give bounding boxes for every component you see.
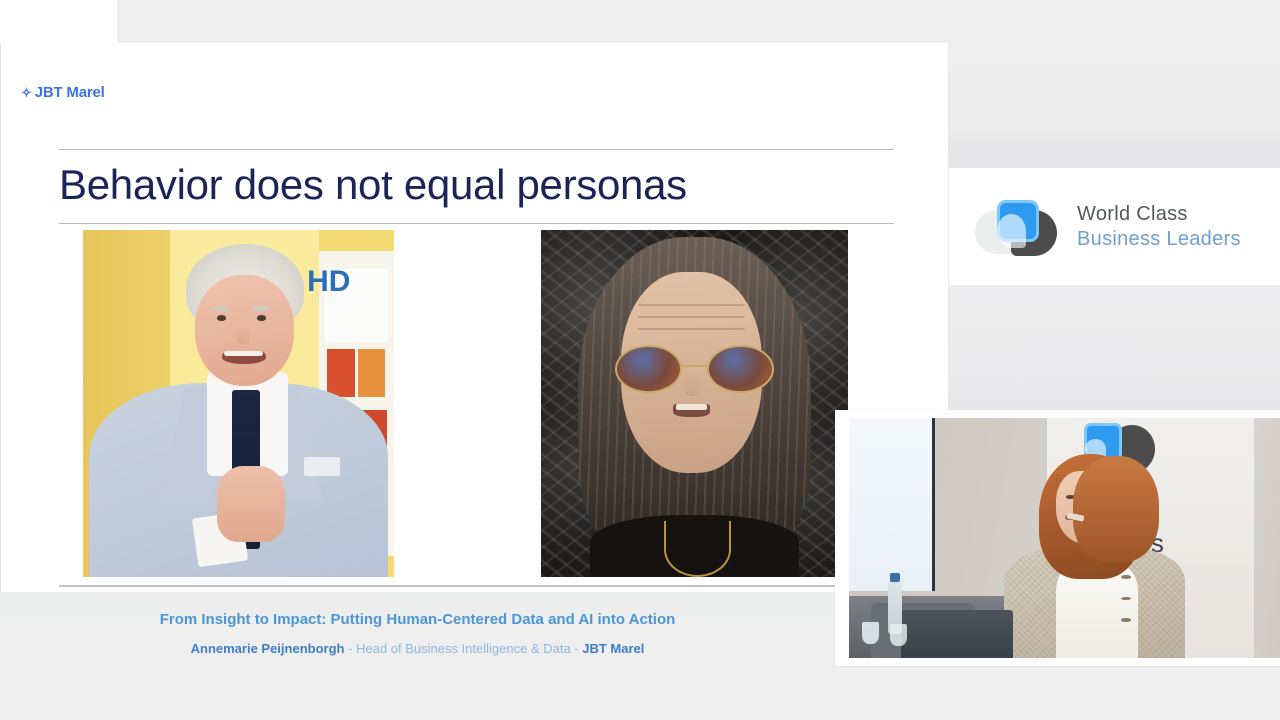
divider-below-title bbox=[59, 223, 894, 224]
blue-square-icon bbox=[997, 200, 1039, 242]
slide-title: Behavior does not equal personas bbox=[59, 161, 879, 209]
video-image: Class bbox=[849, 418, 1280, 658]
jbt-diamond-icon: ✧ bbox=[21, 86, 32, 99]
subject-necklace bbox=[664, 521, 732, 577]
speaker-name: Annemarie Peijnenborgh bbox=[191, 641, 345, 656]
jbt-marel-logo: ✧ JBT Marel bbox=[21, 84, 105, 101]
wcbl-line-2: Business Leaders bbox=[1077, 227, 1241, 251]
credit-separator-2: - bbox=[571, 641, 583, 656]
ozzy-osbourne-photo bbox=[541, 230, 848, 577]
glass-1 bbox=[862, 622, 879, 644]
glass-2 bbox=[890, 624, 907, 646]
speaker-credits: Annemarie Peijnenborgh - Head of Busines… bbox=[0, 641, 835, 656]
world-class-business-leaders-logo: World Class Business Leaders bbox=[973, 196, 1241, 258]
subject-hand bbox=[217, 466, 285, 542]
speech-bubbles-icon bbox=[973, 196, 1065, 258]
jbt-wordmark: JBT Marel bbox=[35, 84, 105, 101]
presentation-slide: ✧ JBT Marel Behavior does not equal pers… bbox=[0, 43, 949, 592]
divider-above-title bbox=[59, 149, 894, 150]
wcbl-wordmark: World Class Business Leaders bbox=[1077, 202, 1241, 251]
background-panel-middle bbox=[949, 285, 1280, 415]
round-sunglasses-icon bbox=[615, 345, 775, 394]
projection-screen bbox=[849, 418, 935, 591]
speaker-company: JBT Marel bbox=[582, 641, 644, 656]
king-charles-photo: HD bbox=[83, 230, 394, 577]
subject-face bbox=[195, 275, 295, 386]
speaker-role: Head of Business Intelligence & Data bbox=[356, 641, 571, 656]
screen-root: World Class Business Leaders ✧ JBT Marel… bbox=[0, 0, 1280, 720]
session-title: From Insight to Impact: Putting Human-Ce… bbox=[0, 611, 835, 628]
divider-bottom bbox=[59, 585, 894, 587]
speaker-hair-front bbox=[1073, 456, 1159, 562]
laptop bbox=[901, 610, 1013, 658]
wcbl-line-1: World Class bbox=[1077, 202, 1241, 226]
wcbl-logo-band: World Class Business Leaders bbox=[949, 168, 1280, 285]
credit-separator-1: - bbox=[344, 641, 356, 656]
speaker-video-thumbnail[interactable]: Class bbox=[835, 410, 1280, 666]
